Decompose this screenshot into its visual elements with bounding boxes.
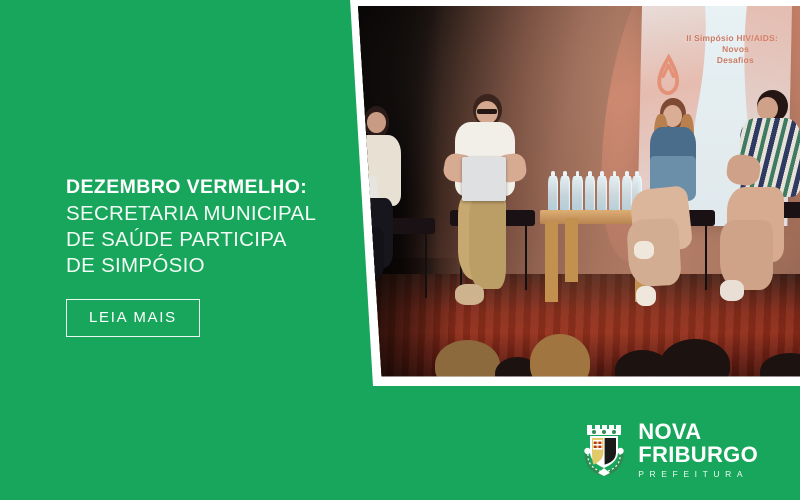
table-leg bbox=[565, 218, 578, 282]
headline-eyebrow: DEZEMBRO VERMELHO: bbox=[66, 176, 346, 199]
event-photo: II Simpósio HIV/AIDS: Novos Desafios S bbox=[330, 0, 800, 386]
backdrop-line-3: Novos bbox=[686, 44, 785, 55]
headline-line-2: DE SAÚDE PARTICIPA bbox=[66, 227, 346, 253]
backdrop-line-4: Desafios bbox=[686, 55, 785, 66]
logo-subtitle: PREFEITURA bbox=[638, 470, 758, 479]
nova-friburgo-coat-of-arms-icon bbox=[581, 422, 627, 476]
logo-line-2: FRIBURGO bbox=[638, 444, 758, 466]
promo-text-block: DEZEMBRO VERMELHO: SECRETARIA MUNICIPAL … bbox=[66, 176, 346, 337]
city-hall-logo[interactable]: NOVA FRIBURGO PREFEITURA bbox=[581, 421, 758, 479]
panelist bbox=[630, 98, 730, 322]
headline-line-3: DE SIMPÓSIO bbox=[66, 253, 346, 279]
logo-line-1: NOVA bbox=[638, 421, 758, 443]
headline-line-1: SECRETARIA MUNICIPAL bbox=[66, 201, 346, 227]
promo-banner: II Simpósio HIV/AIDS: Novos Desafios S bbox=[0, 0, 800, 500]
table-leg bbox=[545, 222, 558, 302]
stage-scene: II Simpósio HIV/AIDS: Novos Desafios S bbox=[330, 0, 800, 386]
read-more-button[interactable]: LEIA MAIS bbox=[66, 299, 200, 337]
backdrop-line-2: HIV/AIDS: bbox=[736, 33, 778, 43]
panelist bbox=[440, 94, 550, 326]
page-title: SECRETARIA MUNICIPAL DE SAÚDE PARTICIPA … bbox=[66, 201, 346, 278]
backdrop-banner-text: II Simpósio HIV/AIDS: Novos Desafios bbox=[686, 33, 786, 67]
logo-wordmark: NOVA FRIBURGO PREFEITURA bbox=[638, 421, 758, 479]
panelist bbox=[720, 90, 800, 322]
backdrop-line-1: II Simpósio bbox=[686, 33, 734, 43]
panelist bbox=[345, 106, 430, 314]
water-bottles bbox=[548, 176, 643, 212]
